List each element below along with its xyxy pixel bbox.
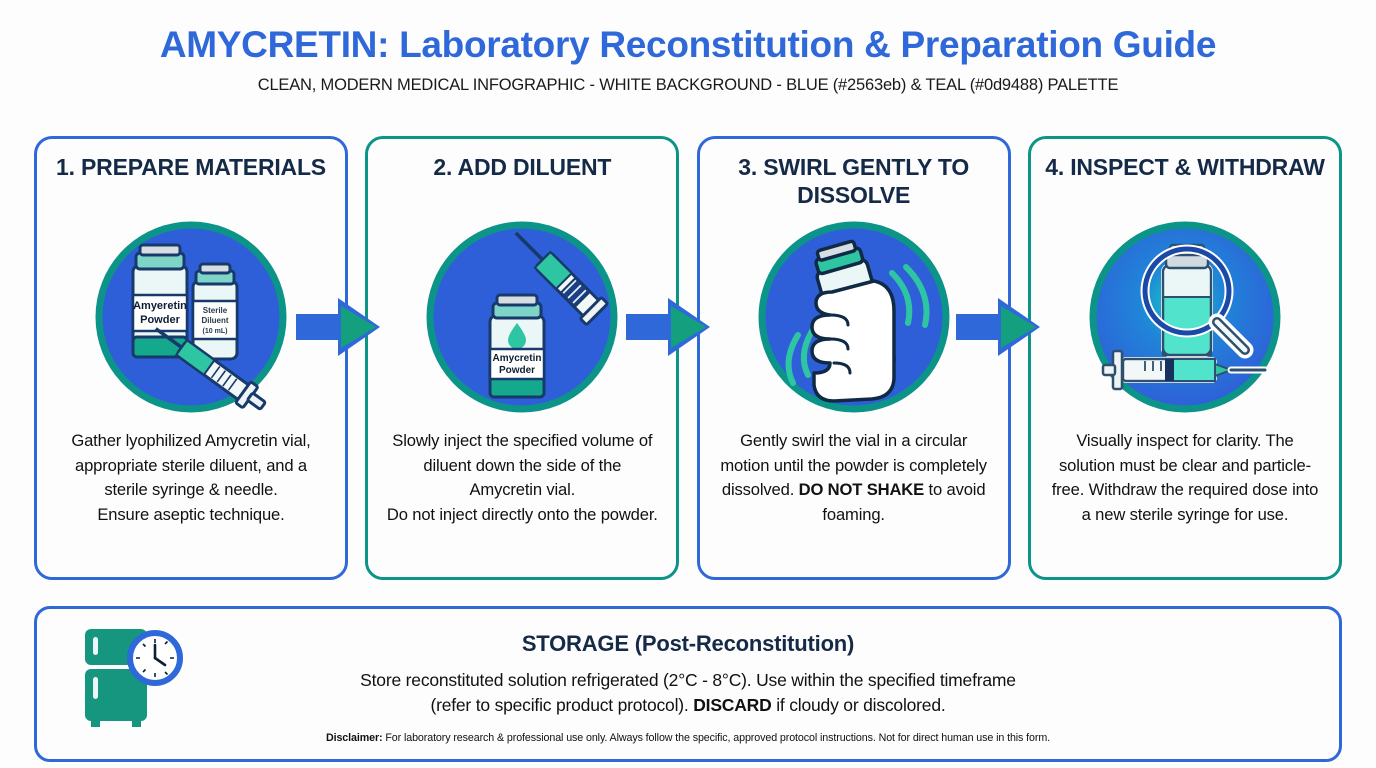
infographic-page: AMYCRETIN: Laboratory Reconstitution & P… <box>0 0 1376 768</box>
magnifier-vial-syringe-icon <box>1087 219 1283 415</box>
svg-text:Powder: Powder <box>499 365 535 376</box>
svg-text:Sterile: Sterile <box>203 306 228 315</box>
storage-panel: STORAGE (Post-Reconstitution) Store reco… <box>34 606 1342 762</box>
svg-text:Amycretin: Amycretin <box>493 353 542 364</box>
step-title-2: 2. ADD DILUENT <box>433 153 611 213</box>
svg-text:Powder: Powder <box>140 314 180 326</box>
page-subtitle: CLEAN, MODERN MEDICAL INFOGRAPHIC - WHIT… <box>0 76 1376 95</box>
syringe-injecting-vial-icon: Amycretin Powder <box>424 219 620 415</box>
step-title-3: 3. SWIRL GENTLY TO DISSOLVE <box>712 153 996 213</box>
step-desc-1: Gather lyophilized Amycretin vial, appro… <box>49 429 333 527</box>
step-card-4[interactable]: 4. INSPECT & WITHDRAW <box>1028 136 1342 580</box>
storage-body: STORAGE (Post-Reconstitution) Store reco… <box>37 609 1339 744</box>
page-title: AMYCRETIN: Laboratory Reconstitution & P… <box>0 26 1376 65</box>
arrow-step2-to-step3 <box>626 296 710 358</box>
step-desc-4: Visually inspect for clarity. The soluti… <box>1043 429 1327 527</box>
disclaimer-label: Disclaimer: <box>326 732 383 744</box>
svg-text:Amyeretin: Amyeretin <box>133 300 187 312</box>
step-title-1: 1. PREPARE MATERIALS <box>56 153 326 213</box>
hand-swirling-vial-icon: Amycretin Powder <box>756 219 952 415</box>
disclaimer-text: For laboratory research & professional u… <box>382 732 1050 744</box>
step-desc-2: Slowly inject the specified volume of di… <box>380 429 664 527</box>
svg-text:(10 mL): (10 mL) <box>203 328 228 335</box>
step-title-4: 4. INSPECT & WITHDRAW <box>1045 153 1324 213</box>
disclaimer: Disclaimer: For laboratory research & pr… <box>37 732 1339 744</box>
storage-text: Store reconstituted solution refrigerate… <box>37 668 1339 718</box>
storage-title: STORAGE (Post-Reconstitution) <box>37 631 1339 657</box>
arrow-step1-to-step2 <box>296 296 380 358</box>
header: AMYCRETIN: Laboratory Reconstitution & P… <box>0 0 1376 95</box>
vials-and-syringe-icon: Amyeretin Powder Sterile Diluent (10 mL) <box>93 219 289 415</box>
step-desc-3: Gently swirl the vial in a circular moti… <box>712 429 996 527</box>
arrow-step3-to-step4 <box>956 296 1040 358</box>
refrigerator-clock-icon <box>75 623 185 733</box>
svg-text:Diluent: Diluent <box>201 316 228 325</box>
